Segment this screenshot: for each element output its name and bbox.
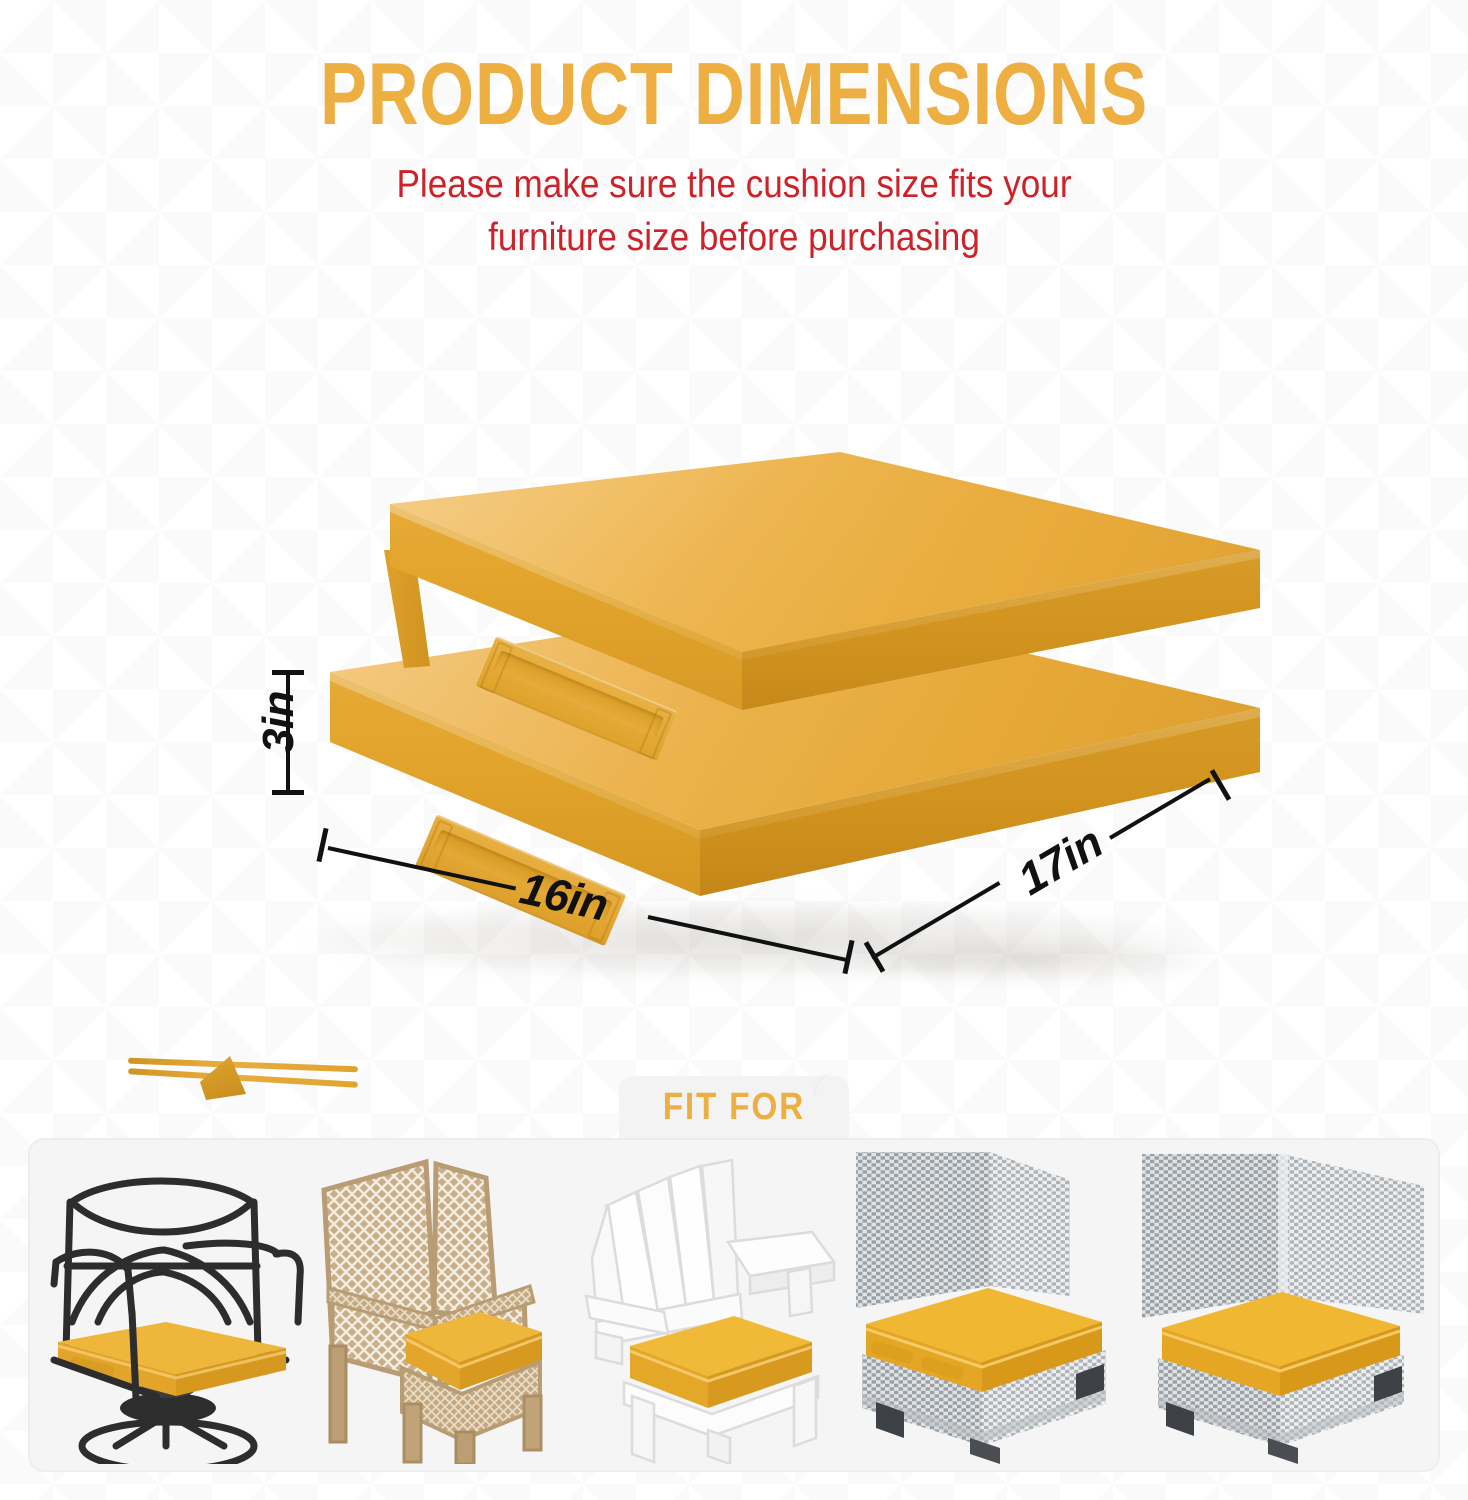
fit-item-sectional-middle-module: Grey wicker sectional middle module xyxy=(840,1146,1130,1464)
fit-for-label: FIT FOR xyxy=(663,1086,805,1129)
dimension-cap-top xyxy=(272,670,304,675)
subtitle-line-2: furniture size before purchasing xyxy=(73,211,1394,264)
fit-item-adirondack-chair: White Adirondack chair xyxy=(572,1146,838,1464)
fit-item-wicker-armchair: Tan wicker armchair xyxy=(310,1146,570,1464)
dimension-cap-bottom xyxy=(272,790,304,795)
header: PRODUCT DIMENSIONS Please make sure the … xyxy=(0,46,1468,264)
dimension-line-right-segment xyxy=(648,915,850,962)
cushion-top xyxy=(360,452,1260,712)
dimension-cap-left xyxy=(316,828,328,862)
fit-for-panel: Black wrought-iron swivel dining chair xyxy=(28,1138,1440,1472)
subtitle-line-1: Please make sure the cushion size fits y… xyxy=(73,158,1394,211)
fit-item-swivel-dining-chair: Black wrought-iron swivel dining chair xyxy=(36,1146,308,1464)
page-title: PRODUCT DIMENSIONS xyxy=(147,46,1321,142)
fit-item-sectional-corner-module: Grey wicker sectional corner module xyxy=(1132,1146,1432,1464)
dimension-label-thickness: 3in xyxy=(257,691,301,753)
dimension-line-left-segment xyxy=(328,846,517,890)
